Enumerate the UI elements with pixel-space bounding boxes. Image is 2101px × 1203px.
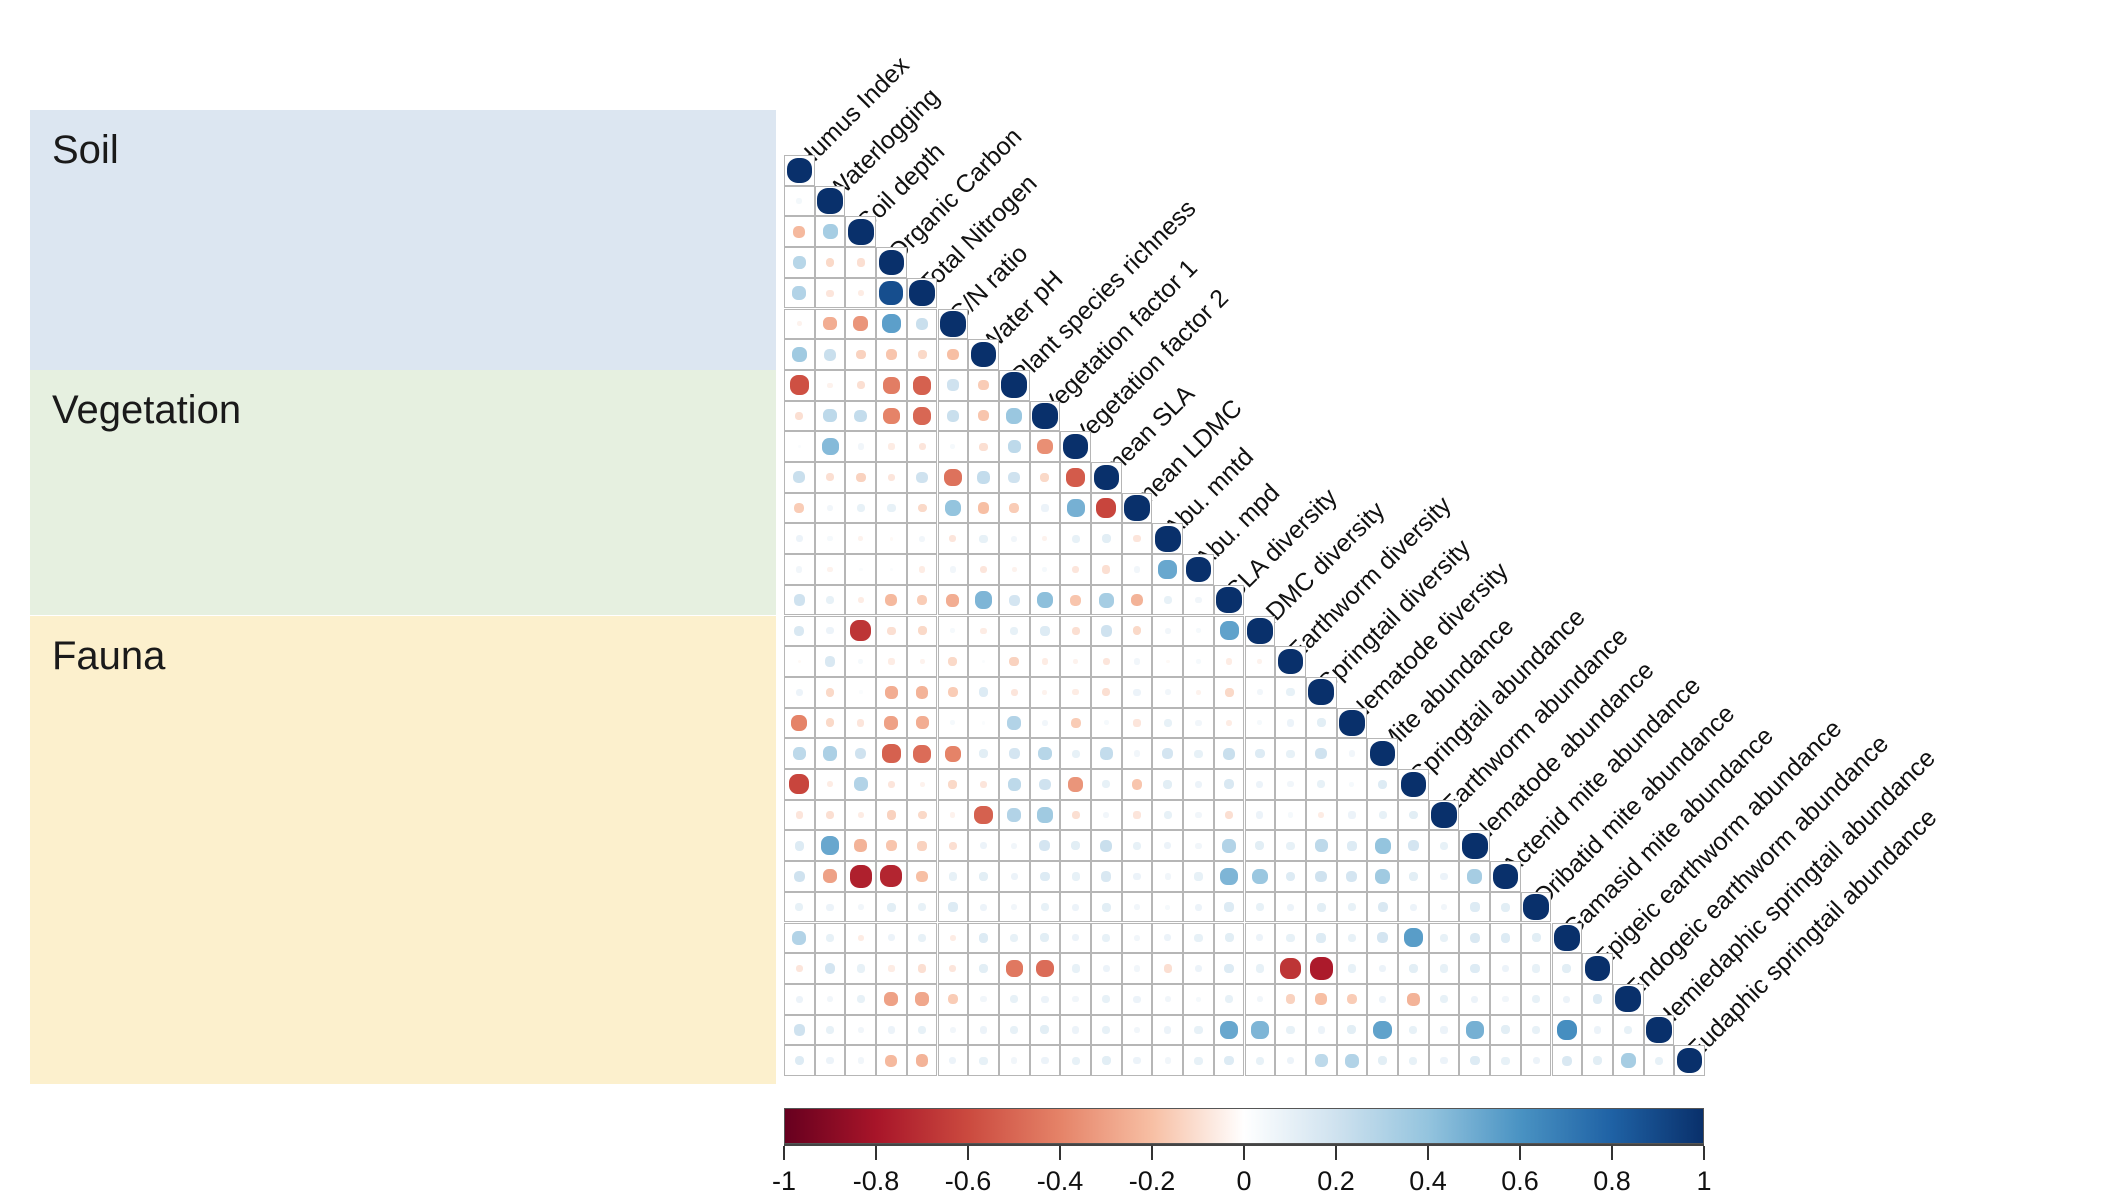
matrix-cell[interactable] xyxy=(1091,616,1122,647)
matrix-cell[interactable] xyxy=(784,892,815,923)
matrix-cell[interactable] xyxy=(968,401,999,432)
matrix-cell[interactable] xyxy=(1337,830,1368,861)
matrix-cell[interactable] xyxy=(1306,923,1337,954)
matrix-cell[interactable] xyxy=(1183,1015,1214,1046)
matrix-cell[interactable] xyxy=(876,646,907,677)
matrix-cell[interactable] xyxy=(1214,830,1245,861)
matrix-cell[interactable] xyxy=(876,800,907,831)
matrix-cell[interactable] xyxy=(1367,923,1398,954)
matrix-cell[interactable] xyxy=(907,523,938,554)
matrix-cell[interactable] xyxy=(1060,769,1091,800)
matrix-cell[interactable] xyxy=(845,585,876,616)
matrix-cell[interactable] xyxy=(1091,892,1122,923)
matrix-cell[interactable] xyxy=(1183,953,1214,984)
matrix-cell[interactable] xyxy=(1152,830,1183,861)
matrix-cell[interactable] xyxy=(1122,1015,1153,1046)
matrix-cell[interactable] xyxy=(784,585,815,616)
matrix-cell[interactable] xyxy=(1490,923,1521,954)
matrix-cell[interactable] xyxy=(1091,554,1122,585)
matrix-cell[interactable] xyxy=(784,1015,815,1046)
matrix-cell[interactable] xyxy=(1674,1045,1705,1076)
matrix-cell[interactable] xyxy=(1490,892,1521,923)
matrix-cell[interactable] xyxy=(1275,646,1306,677)
matrix-cell[interactable] xyxy=(1060,892,1091,923)
matrix-cell[interactable] xyxy=(815,186,846,217)
matrix-cell[interactable] xyxy=(1613,1015,1644,1046)
matrix-cell[interactable] xyxy=(1367,1015,1398,1046)
matrix-cell[interactable] xyxy=(1030,431,1061,462)
matrix-cell[interactable] xyxy=(1552,1045,1583,1076)
matrix-cell[interactable] xyxy=(1091,984,1122,1015)
matrix-cell[interactable] xyxy=(968,953,999,984)
matrix-cell[interactable] xyxy=(876,769,907,800)
matrix-cell[interactable] xyxy=(1337,738,1368,769)
matrix-cell[interactable] xyxy=(1552,984,1583,1015)
matrix-cell[interactable] xyxy=(815,800,846,831)
matrix-cell[interactable] xyxy=(1214,1015,1245,1046)
matrix-cell[interactable] xyxy=(784,616,815,647)
matrix-cell[interactable] xyxy=(815,585,846,616)
matrix-cell[interactable] xyxy=(999,984,1030,1015)
matrix-cell[interactable] xyxy=(968,923,999,954)
matrix-cell[interactable] xyxy=(845,800,876,831)
matrix-cell[interactable] xyxy=(999,585,1030,616)
matrix-cell[interactable] xyxy=(1306,953,1337,984)
matrix-cell[interactable] xyxy=(1306,892,1337,923)
matrix-cell[interactable] xyxy=(968,708,999,739)
matrix-cell[interactable] xyxy=(938,738,969,769)
matrix-cell[interactable] xyxy=(1091,585,1122,616)
matrix-cell[interactable] xyxy=(1306,677,1337,708)
matrix-cell[interactable] xyxy=(845,278,876,309)
matrix-cell[interactable] xyxy=(999,708,1030,739)
matrix-cell[interactable] xyxy=(815,1015,846,1046)
matrix-cell[interactable] xyxy=(1183,616,1214,647)
matrix-cell[interactable] xyxy=(845,523,876,554)
matrix-cell[interactable] xyxy=(815,339,846,370)
matrix-cell[interactable] xyxy=(876,830,907,861)
matrix-cell[interactable] xyxy=(876,493,907,524)
matrix-cell[interactable] xyxy=(784,800,815,831)
matrix-cell[interactable] xyxy=(1275,1045,1306,1076)
matrix-cell[interactable] xyxy=(1091,861,1122,892)
matrix-cell[interactable] xyxy=(1060,493,1091,524)
matrix-cell[interactable] xyxy=(1183,892,1214,923)
matrix-cell[interactable] xyxy=(1459,830,1490,861)
matrix-cell[interactable] xyxy=(815,708,846,739)
matrix-cell[interactable] xyxy=(1367,953,1398,984)
matrix-cell[interactable] xyxy=(784,984,815,1015)
matrix-cell[interactable] xyxy=(1521,1015,1552,1046)
matrix-cell[interactable] xyxy=(1152,738,1183,769)
matrix-cell[interactable] xyxy=(907,830,938,861)
matrix-cell[interactable] xyxy=(1367,769,1398,800)
matrix-cell[interactable] xyxy=(938,554,969,585)
matrix-cell[interactable] xyxy=(815,646,846,677)
matrix-cell[interactable] xyxy=(1214,616,1245,647)
matrix-cell[interactable] xyxy=(845,708,876,739)
matrix-cell[interactable] xyxy=(907,646,938,677)
matrix-cell[interactable] xyxy=(999,861,1030,892)
matrix-cell[interactable] xyxy=(1183,984,1214,1015)
matrix-cell[interactable] xyxy=(1337,800,1368,831)
matrix-cell[interactable] xyxy=(1214,677,1245,708)
matrix-cell[interactable] xyxy=(1122,523,1153,554)
matrix-cell[interactable] xyxy=(1091,523,1122,554)
matrix-cell[interactable] xyxy=(907,339,938,370)
matrix-cell[interactable] xyxy=(1337,984,1368,1015)
matrix-cell[interactable] xyxy=(999,769,1030,800)
matrix-cell[interactable] xyxy=(907,554,938,585)
matrix-cell[interactable] xyxy=(845,892,876,923)
matrix-cell[interactable] xyxy=(1367,984,1398,1015)
matrix-cell[interactable] xyxy=(876,554,907,585)
matrix-cell[interactable] xyxy=(968,493,999,524)
matrix-cell[interactable] xyxy=(1582,1045,1613,1076)
matrix-cell[interactable] xyxy=(1214,738,1245,769)
matrix-cell[interactable] xyxy=(907,585,938,616)
matrix-cell[interactable] xyxy=(845,738,876,769)
matrix-cell[interactable] xyxy=(1398,984,1429,1015)
matrix-cell[interactable] xyxy=(938,401,969,432)
matrix-cell[interactable] xyxy=(1337,892,1368,923)
matrix-cell[interactable] xyxy=(1091,800,1122,831)
matrix-cell[interactable] xyxy=(968,554,999,585)
matrix-cell[interactable] xyxy=(784,738,815,769)
matrix-cell[interactable] xyxy=(784,708,815,739)
matrix-cell[interactable] xyxy=(876,861,907,892)
matrix-cell[interactable] xyxy=(815,616,846,647)
matrix-cell[interactable] xyxy=(1275,769,1306,800)
matrix-cell[interactable] xyxy=(999,370,1030,401)
matrix-cell[interactable] xyxy=(1183,1045,1214,1076)
matrix-cell[interactable] xyxy=(907,677,938,708)
matrix-cell[interactable] xyxy=(1091,708,1122,739)
matrix-cell[interactable] xyxy=(1091,646,1122,677)
matrix-cell[interactable] xyxy=(815,769,846,800)
matrix-cell[interactable] xyxy=(938,708,969,739)
matrix-cell[interactable] xyxy=(1030,953,1061,984)
matrix-cell[interactable] xyxy=(845,830,876,861)
matrix-cell[interactable] xyxy=(1214,1045,1245,1076)
matrix-cell[interactable] xyxy=(1429,984,1460,1015)
matrix-cell[interactable] xyxy=(968,984,999,1015)
matrix-cell[interactable] xyxy=(1060,431,1091,462)
matrix-cell[interactable] xyxy=(1582,984,1613,1015)
matrix-cell[interactable] xyxy=(815,278,846,309)
matrix-cell[interactable] xyxy=(1060,923,1091,954)
matrix-cell[interactable] xyxy=(1275,923,1306,954)
matrix-cell[interactable] xyxy=(784,923,815,954)
matrix-cell[interactable] xyxy=(1091,738,1122,769)
matrix-cell[interactable] xyxy=(968,370,999,401)
matrix-cell[interactable] xyxy=(784,431,815,462)
matrix-cell[interactable] xyxy=(1644,1045,1675,1076)
matrix-cell[interactable] xyxy=(1030,1045,1061,1076)
matrix-cell[interactable] xyxy=(1214,861,1245,892)
matrix-cell[interactable] xyxy=(1122,616,1153,647)
matrix-cell[interactable] xyxy=(1060,523,1091,554)
matrix-cell[interactable] xyxy=(1582,953,1613,984)
matrix-cell[interactable] xyxy=(1398,800,1429,831)
matrix-cell[interactable] xyxy=(815,830,846,861)
matrix-cell[interactable] xyxy=(1214,769,1245,800)
matrix-cell[interactable] xyxy=(784,769,815,800)
matrix-cell[interactable] xyxy=(784,278,815,309)
matrix-cell[interactable] xyxy=(1152,892,1183,923)
matrix-cell[interactable] xyxy=(1060,861,1091,892)
matrix-cell[interactable] xyxy=(1060,953,1091,984)
matrix-cell[interactable] xyxy=(938,646,969,677)
matrix-cell[interactable] xyxy=(784,216,815,247)
matrix-cell[interactable] xyxy=(876,738,907,769)
matrix-cell[interactable] xyxy=(1306,1015,1337,1046)
matrix-cell[interactable] xyxy=(1152,1015,1183,1046)
matrix-cell[interactable] xyxy=(1459,861,1490,892)
matrix-cell[interactable] xyxy=(845,554,876,585)
matrix-cell[interactable] xyxy=(1030,769,1061,800)
matrix-cell[interactable] xyxy=(815,523,846,554)
matrix-cell[interactable] xyxy=(845,646,876,677)
matrix-cell[interactable] xyxy=(1030,1015,1061,1046)
matrix-cell[interactable] xyxy=(1245,677,1276,708)
matrix-cell[interactable] xyxy=(1245,1015,1276,1046)
matrix-cell[interactable] xyxy=(1306,984,1337,1015)
matrix-cell[interactable] xyxy=(1183,554,1214,585)
matrix-cell[interactable] xyxy=(1183,677,1214,708)
matrix-cell[interactable] xyxy=(999,830,1030,861)
matrix-cell[interactable] xyxy=(845,616,876,647)
matrix-cell[interactable] xyxy=(784,523,815,554)
matrix-cell[interactable] xyxy=(1398,1045,1429,1076)
matrix-cell[interactable] xyxy=(1245,616,1276,647)
matrix-cell[interactable] xyxy=(999,493,1030,524)
matrix-cell[interactable] xyxy=(1429,892,1460,923)
matrix-cell[interactable] xyxy=(1429,923,1460,954)
matrix-cell[interactable] xyxy=(876,278,907,309)
matrix-cell[interactable] xyxy=(1245,953,1276,984)
matrix-cell[interactable] xyxy=(938,493,969,524)
matrix-cell[interactable] xyxy=(1459,923,1490,954)
matrix-cell[interactable] xyxy=(784,462,815,493)
matrix-cell[interactable] xyxy=(1122,861,1153,892)
matrix-cell[interactable] xyxy=(938,339,969,370)
matrix-cell[interactable] xyxy=(1398,861,1429,892)
matrix-cell[interactable] xyxy=(1245,984,1276,1015)
matrix-cell[interactable] xyxy=(1275,861,1306,892)
matrix-cell[interactable] xyxy=(1275,677,1306,708)
matrix-cell[interactable] xyxy=(907,1045,938,1076)
matrix-cell[interactable] xyxy=(815,216,846,247)
matrix-cell[interactable] xyxy=(876,370,907,401)
matrix-cell[interactable] xyxy=(1459,953,1490,984)
matrix-cell[interactable] xyxy=(815,309,846,340)
matrix-cell[interactable] xyxy=(1306,830,1337,861)
matrix-cell[interactable] xyxy=(1429,800,1460,831)
matrix-cell[interactable] xyxy=(1091,769,1122,800)
matrix-cell[interactable] xyxy=(1490,953,1521,984)
matrix-cell[interactable] xyxy=(1490,984,1521,1015)
matrix-cell[interactable] xyxy=(1030,616,1061,647)
matrix-cell[interactable] xyxy=(1306,1045,1337,1076)
matrix-cell[interactable] xyxy=(1152,585,1183,616)
matrix-cell[interactable] xyxy=(968,462,999,493)
matrix-cell[interactable] xyxy=(1521,1045,1552,1076)
matrix-cell[interactable] xyxy=(968,769,999,800)
matrix-cell[interactable] xyxy=(1429,861,1460,892)
matrix-cell[interactable] xyxy=(938,953,969,984)
matrix-cell[interactable] xyxy=(845,309,876,340)
matrix-cell[interactable] xyxy=(1613,984,1644,1015)
matrix-cell[interactable] xyxy=(815,1045,846,1076)
matrix-cell[interactable] xyxy=(845,216,876,247)
matrix-cell[interactable] xyxy=(907,401,938,432)
matrix-cell[interactable] xyxy=(815,401,846,432)
matrix-cell[interactable] xyxy=(1152,984,1183,1015)
matrix-cell[interactable] xyxy=(1275,800,1306,831)
matrix-cell[interactable] xyxy=(907,953,938,984)
matrix-cell[interactable] xyxy=(938,585,969,616)
matrix-cell[interactable] xyxy=(968,1045,999,1076)
matrix-cell[interactable] xyxy=(876,309,907,340)
matrix-cell[interactable] xyxy=(1060,830,1091,861)
matrix-cell[interactable] xyxy=(907,984,938,1015)
matrix-cell[interactable] xyxy=(1030,923,1061,954)
matrix-cell[interactable] xyxy=(1152,800,1183,831)
matrix-cell[interactable] xyxy=(1337,923,1368,954)
matrix-cell[interactable] xyxy=(999,923,1030,954)
matrix-cell[interactable] xyxy=(1582,1015,1613,1046)
matrix-cell[interactable] xyxy=(938,769,969,800)
matrix-cell[interactable] xyxy=(1521,953,1552,984)
matrix-cell[interactable] xyxy=(1183,708,1214,739)
matrix-cell[interactable] xyxy=(1060,462,1091,493)
matrix-cell[interactable] xyxy=(999,677,1030,708)
matrix-cell[interactable] xyxy=(938,677,969,708)
matrix-cell[interactable] xyxy=(1183,769,1214,800)
matrix-cell[interactable] xyxy=(1030,861,1061,892)
matrix-cell[interactable] xyxy=(1122,923,1153,954)
matrix-cell[interactable] xyxy=(1214,984,1245,1015)
matrix-cell[interactable] xyxy=(1644,1015,1675,1046)
matrix-cell[interactable] xyxy=(1367,830,1398,861)
matrix-cell[interactable] xyxy=(1060,738,1091,769)
matrix-cell[interactable] xyxy=(1552,953,1583,984)
matrix-cell[interactable] xyxy=(1122,738,1153,769)
matrix-cell[interactable] xyxy=(845,431,876,462)
matrix-cell[interactable] xyxy=(1091,1015,1122,1046)
matrix-cell[interactable] xyxy=(999,523,1030,554)
matrix-cell[interactable] xyxy=(968,677,999,708)
matrix-cell[interactable] xyxy=(1152,923,1183,954)
matrix-cell[interactable] xyxy=(1060,984,1091,1015)
matrix-cell[interactable] xyxy=(1030,493,1061,524)
matrix-cell[interactable] xyxy=(1429,953,1460,984)
matrix-cell[interactable] xyxy=(1030,554,1061,585)
matrix-cell[interactable] xyxy=(1275,738,1306,769)
matrix-cell[interactable] xyxy=(1306,708,1337,739)
matrix-cell[interactable] xyxy=(815,923,846,954)
matrix-cell[interactable] xyxy=(1367,800,1398,831)
matrix-cell[interactable] xyxy=(784,677,815,708)
matrix-cell[interactable] xyxy=(999,738,1030,769)
matrix-cell[interactable] xyxy=(1429,1015,1460,1046)
matrix-cell[interactable] xyxy=(1337,1045,1368,1076)
matrix-cell[interactable] xyxy=(784,339,815,370)
matrix-cell[interactable] xyxy=(1091,1045,1122,1076)
matrix-cell[interactable] xyxy=(815,953,846,984)
matrix-cell[interactable] xyxy=(938,462,969,493)
matrix-cell[interactable] xyxy=(999,1015,1030,1046)
matrix-cell[interactable] xyxy=(907,431,938,462)
matrix-cell[interactable] xyxy=(907,493,938,524)
matrix-cell[interactable] xyxy=(815,984,846,1015)
matrix-cell[interactable] xyxy=(1122,585,1153,616)
matrix-cell[interactable] xyxy=(1275,892,1306,923)
matrix-cell[interactable] xyxy=(815,738,846,769)
matrix-cell[interactable] xyxy=(968,861,999,892)
matrix-cell[interactable] xyxy=(784,861,815,892)
matrix-cell[interactable] xyxy=(1306,861,1337,892)
matrix-cell[interactable] xyxy=(1245,800,1276,831)
matrix-cell[interactable] xyxy=(907,616,938,647)
matrix-cell[interactable] xyxy=(968,892,999,923)
matrix-cell[interactable] xyxy=(907,370,938,401)
matrix-cell[interactable] xyxy=(1152,953,1183,984)
matrix-cell[interactable] xyxy=(876,1015,907,1046)
matrix-cell[interactable] xyxy=(876,892,907,923)
matrix-cell[interactable] xyxy=(845,677,876,708)
matrix-cell[interactable] xyxy=(1152,861,1183,892)
matrix-cell[interactable] xyxy=(845,1015,876,1046)
matrix-cell[interactable] xyxy=(1122,769,1153,800)
matrix-cell[interactable] xyxy=(1030,646,1061,677)
matrix-cell[interactable] xyxy=(1122,1045,1153,1076)
matrix-cell[interactable] xyxy=(1060,1045,1091,1076)
matrix-cell[interactable] xyxy=(1245,708,1276,739)
matrix-cell[interactable] xyxy=(1152,708,1183,739)
matrix-cell[interactable] xyxy=(1183,585,1214,616)
matrix-cell[interactable] xyxy=(784,401,815,432)
matrix-cell[interactable] xyxy=(1490,1045,1521,1076)
matrix-cell[interactable] xyxy=(1091,953,1122,984)
matrix-cell[interactable] xyxy=(815,554,846,585)
matrix-cell[interactable] xyxy=(907,1015,938,1046)
matrix-cell[interactable] xyxy=(938,984,969,1015)
matrix-cell[interactable] xyxy=(845,1045,876,1076)
matrix-cell[interactable] xyxy=(1152,616,1183,647)
matrix-cell[interactable] xyxy=(876,462,907,493)
matrix-cell[interactable] xyxy=(1275,830,1306,861)
matrix-cell[interactable] xyxy=(1122,677,1153,708)
matrix-cell[interactable] xyxy=(907,462,938,493)
matrix-cell[interactable] xyxy=(815,861,846,892)
matrix-cell[interactable] xyxy=(1030,708,1061,739)
matrix-cell[interactable] xyxy=(999,401,1030,432)
matrix-cell[interactable] xyxy=(1214,800,1245,831)
matrix-cell[interactable] xyxy=(938,370,969,401)
matrix-cell[interactable] xyxy=(876,431,907,462)
matrix-cell[interactable] xyxy=(1245,1045,1276,1076)
matrix-cell[interactable] xyxy=(784,646,815,677)
matrix-cell[interactable] xyxy=(1459,1045,1490,1076)
matrix-cell[interactable] xyxy=(999,1045,1030,1076)
matrix-cell[interactable] xyxy=(1060,800,1091,831)
matrix-cell[interactable] xyxy=(1429,830,1460,861)
matrix-cell[interactable] xyxy=(1245,769,1276,800)
matrix-cell[interactable] xyxy=(1091,677,1122,708)
matrix-cell[interactable] xyxy=(1214,923,1245,954)
